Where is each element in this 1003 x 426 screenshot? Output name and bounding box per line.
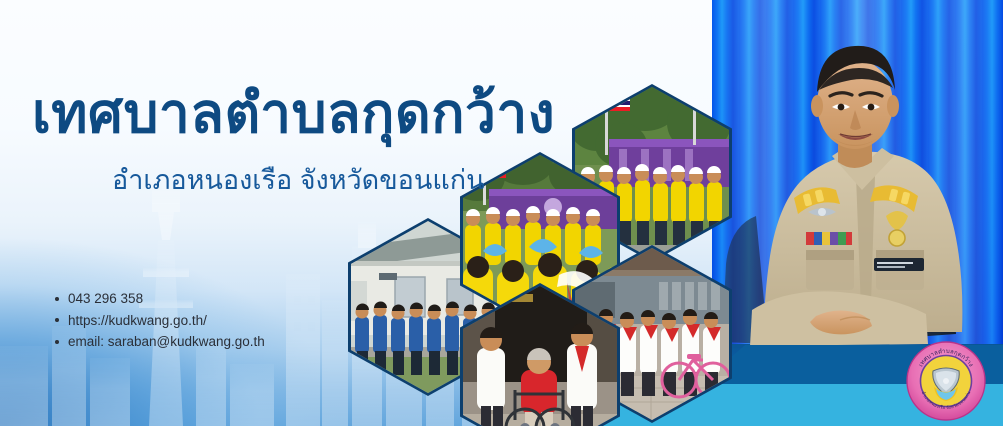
- contact-website[interactable]: https://kudkwang.go.th/: [68, 310, 265, 332]
- municipality-banner: เทศบาลตำบลกุดกว้าง อำเภอหนองเรือ จังหวัด…: [0, 0, 1003, 426]
- contact-email-text: email: saraban@kudkwang.go.th: [68, 334, 265, 349]
- contact-phone-text: 043 296 358: [68, 291, 143, 306]
- contact-email[interactable]: email: saraban@kudkwang.go.th: [68, 331, 265, 353]
- page-title: เทศบาลตำบลกุดกว้าง: [32, 84, 555, 142]
- municipal-seal[interactable]: เทศบาลตำบลกุดกว้าง อำเภอหนองเรือ จังหวัด…: [906, 341, 986, 421]
- page-subtitle: อำเภอหนองเรือ จังหวัดขอนแก่น: [112, 158, 485, 201]
- photo-collage: [0, 0, 1003, 426]
- contact-phone[interactable]: 043 296 358: [68, 288, 265, 310]
- contact-website-text: https://kudkwang.go.th/: [68, 313, 207, 328]
- contact-list: 043 296 358 https://kudkwang.go.th/ emai…: [52, 288, 265, 353]
